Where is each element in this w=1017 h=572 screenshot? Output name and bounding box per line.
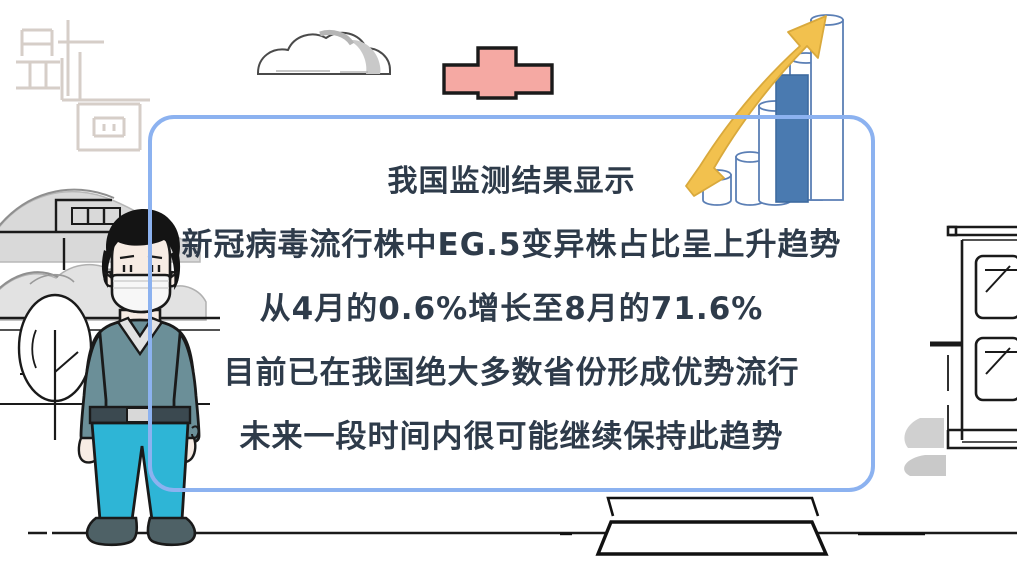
cloud	[258, 32, 390, 74]
ground-shadow-2	[904, 455, 946, 476]
road-marking-trapezoid	[560, 498, 925, 554]
medical-cross-icon	[444, 48, 552, 98]
ground-shadow	[904, 418, 944, 448]
kepu-watermark-logo	[16, 20, 150, 150]
building-right	[930, 227, 1017, 448]
infographic-canvas: 我国监测结果显示 新冠病毒流行株中EG.5变异株占比呈上升趋势 从4月的0.6%…	[0, 0, 1017, 572]
tree	[19, 295, 91, 440]
speech-box	[148, 115, 875, 492]
